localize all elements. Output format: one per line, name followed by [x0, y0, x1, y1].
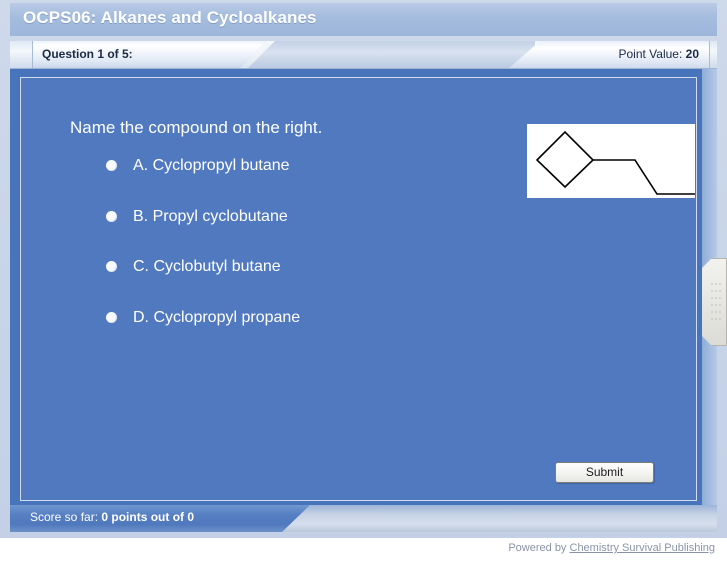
question-info-bar: Question 1 of 5: Point Value: 20 [10, 41, 717, 69]
score-prefix-label: Score so far: [30, 510, 98, 524]
publisher-link[interactable]: Chemistry Survival Publishing [570, 542, 716, 554]
question-panel: Name the compound on the right. A. Cyclo… [20, 77, 697, 501]
grip-dots-icon [711, 283, 723, 323]
vertical-splitter-handle[interactable] [702, 258, 727, 346]
answer-choice-c-label: C. Cyclobutyl butane [133, 258, 281, 275]
score-value: 0 points out of 0 [101, 510, 194, 524]
point-value-label: Point Value: [618, 47, 682, 61]
compound-structure-image [527, 124, 695, 198]
answer-choice-a-label: A. Cyclopropyl butane [133, 157, 290, 174]
qbar-diagonal-segment-1 [235, 41, 535, 69]
point-value: Point Value: 20 [618, 47, 699, 61]
skeletal-structure-icon [527, 124, 695, 198]
content-panel: Name the compound on the right. A. Cyclo… [10, 69, 717, 532]
point-value-number: 20 [686, 47, 699, 61]
window-frame: OCPS06: Alkanes and Cycloalkanes Questio… [0, 0, 727, 538]
answer-choice-d[interactable]: D. Cyclopropyl propane [106, 309, 300, 326]
answer-choice-c[interactable]: C. Cyclobutyl butane [106, 258, 281, 275]
submit-button[interactable]: Submit [555, 462, 654, 483]
qbar-right-cap [709, 41, 717, 69]
footer: Powered by Chemistry Survival Publishing [0, 538, 727, 561]
answer-choice-d-label: D. Cyclopropyl propane [133, 309, 300, 326]
powered-by-credit: Powered by Chemistry Survival Publishing [508, 542, 715, 554]
radio-bullet-icon[interactable] [106, 211, 117, 222]
powered-by-label: Powered by [508, 542, 566, 554]
question-stem: Name the compound on the right. [70, 118, 322, 138]
answer-choice-b[interactable]: B. Propyl cyclobutane [106, 208, 288, 225]
radio-bullet-icon[interactable] [106, 312, 117, 323]
page-title: OCPS06: Alkanes and Cycloalkanes [23, 8, 317, 28]
score-bar: Score so far: 0 points out of 0 [10, 505, 717, 532]
radio-bullet-icon[interactable] [106, 261, 117, 272]
answer-choice-a[interactable]: A. Cyclopropyl butane [106, 157, 290, 174]
score-status: Score so far: 0 points out of 0 [30, 510, 194, 524]
answer-choice-b-label: B. Propyl cyclobutane [133, 208, 288, 225]
question-counter: Question 1 of 5: [42, 47, 133, 61]
quiz-application: OCPS06: Alkanes and Cycloalkanes Questio… [0, 0, 727, 561]
radio-bullet-icon[interactable] [106, 160, 117, 171]
title-bar: OCPS06: Alkanes and Cycloalkanes [10, 3, 717, 36]
qbar-left-cap [10, 41, 33, 69]
